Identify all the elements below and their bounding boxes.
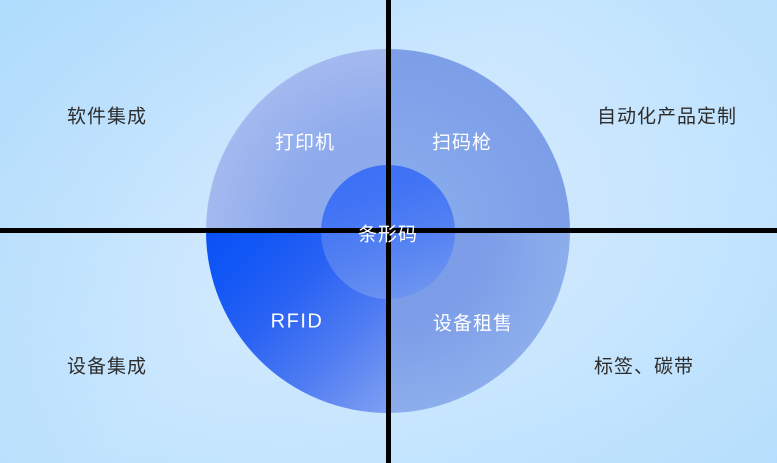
ring-label-rfid: RFID: [271, 311, 324, 334]
outer-label-automation-customized: 自动化产品定制: [597, 102, 737, 129]
outer-label-software-integration: 软件集成: [67, 102, 147, 129]
center-label-barcode: 条形码: [358, 220, 418, 247]
diagram-canvas: 软件集成 自动化产品定制 设备集成 标签、碳带 打印机 扫码枪 RFID 设备租…: [0, 0, 777, 463]
outer-label-device-integration: 设备集成: [67, 352, 147, 379]
ring-label-scanner: 扫码枪: [432, 128, 492, 155]
ring-label-rental: 设备租售: [433, 309, 513, 336]
outer-label-labels-ribbons: 标签、碳带: [594, 352, 694, 379]
ring-label-printer: 打印机: [275, 128, 335, 155]
